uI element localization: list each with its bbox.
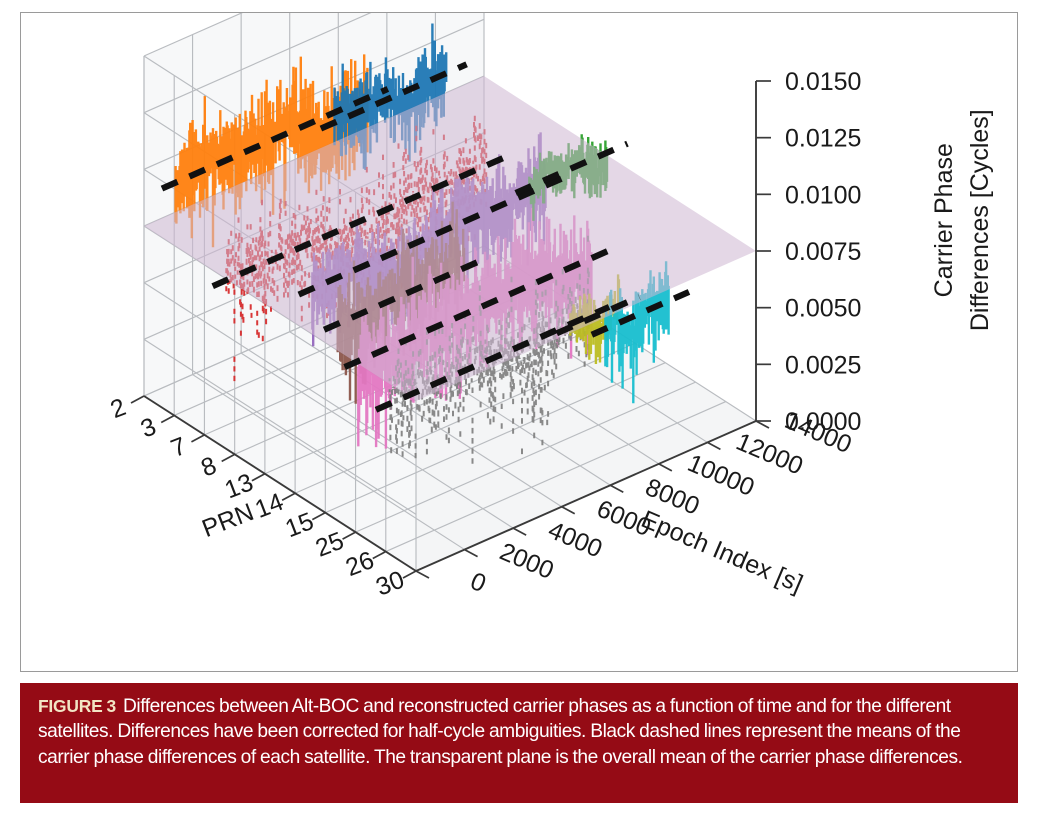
epoch-tick: [707, 442, 720, 449]
z-tick-label-0.0150: 0.0150: [785, 68, 861, 96]
figure-caption-block: FIGURE 3Differences between Alt-BOC and …: [20, 683, 1018, 803]
prn-tick-label-3: 3: [137, 412, 160, 443]
prn-tick: [222, 454, 235, 461]
z-tick-label-0.0000: 0.0000: [785, 408, 861, 436]
z-tick-label-0.0100: 0.0100: [785, 181, 861, 209]
epoch-tick: [756, 421, 769, 428]
figure-caption-body: Differences between Alt-BOC and reconstr…: [38, 696, 963, 768]
figure-caption-label: FIGURE 3: [38, 696, 116, 716]
prn-tick: [252, 474, 265, 481]
z-axis-title-line1: Carrier Phase: [930, 143, 958, 297]
epoch-tick: [416, 571, 429, 578]
epoch-tick: [465, 550, 478, 557]
prn-tick: [403, 571, 416, 578]
prn-tick-label-2: 2: [107, 393, 130, 424]
z-tick-label-0.0025: 0.0025: [785, 351, 861, 379]
figure-caption-text: FIGURE 3Differences between Alt-BOC and …: [38, 694, 1000, 770]
carrier-phase-3d-plot: 2378131415252630PRN020004000600080001000…: [21, 13, 1017, 670]
prn-tick: [161, 415, 174, 422]
figure-frame: 2378131415252630PRN020004000600080001000…: [20, 12, 1018, 672]
prn-tick: [373, 552, 386, 559]
prn-axis-title: PRN: [198, 498, 257, 543]
epoch-tick-label-0: 0: [466, 567, 490, 598]
epoch-tick: [659, 464, 672, 471]
plot-root: 2378131415252630PRN020004000600080001000…: [107, 13, 994, 602]
epoch-axis-title: Epoch Index [s]: [637, 505, 807, 598]
epoch-tick: [610, 485, 623, 492]
prn-tick: [312, 513, 325, 520]
prn-tick: [282, 493, 295, 500]
prn-tick-label-30: 30: [372, 565, 408, 601]
z-axis-title-line2: Differences [Cycles]: [966, 109, 994, 331]
z-tick-label-0.0050: 0.0050: [785, 295, 861, 323]
prn-tick-label-7: 7: [167, 432, 190, 463]
epoch-tick: [513, 528, 526, 535]
z-tick-label-0.0075: 0.0075: [785, 238, 861, 266]
prn-tick: [131, 396, 144, 403]
prn-tick: [191, 435, 204, 442]
epoch-tick: [562, 507, 575, 514]
z-tick-label-0.0125: 0.0125: [785, 125, 861, 153]
prn-tick: [343, 532, 356, 539]
figure-page: 2378131415252630PRN020004000600080001000…: [0, 0, 1040, 826]
plot-3d-stage: 2378131415252630PRN020004000600080001000…: [21, 13, 1017, 670]
epoch-tick-label-2000: 2000: [496, 537, 558, 585]
prn-tick-label-8: 8: [197, 451, 220, 482]
